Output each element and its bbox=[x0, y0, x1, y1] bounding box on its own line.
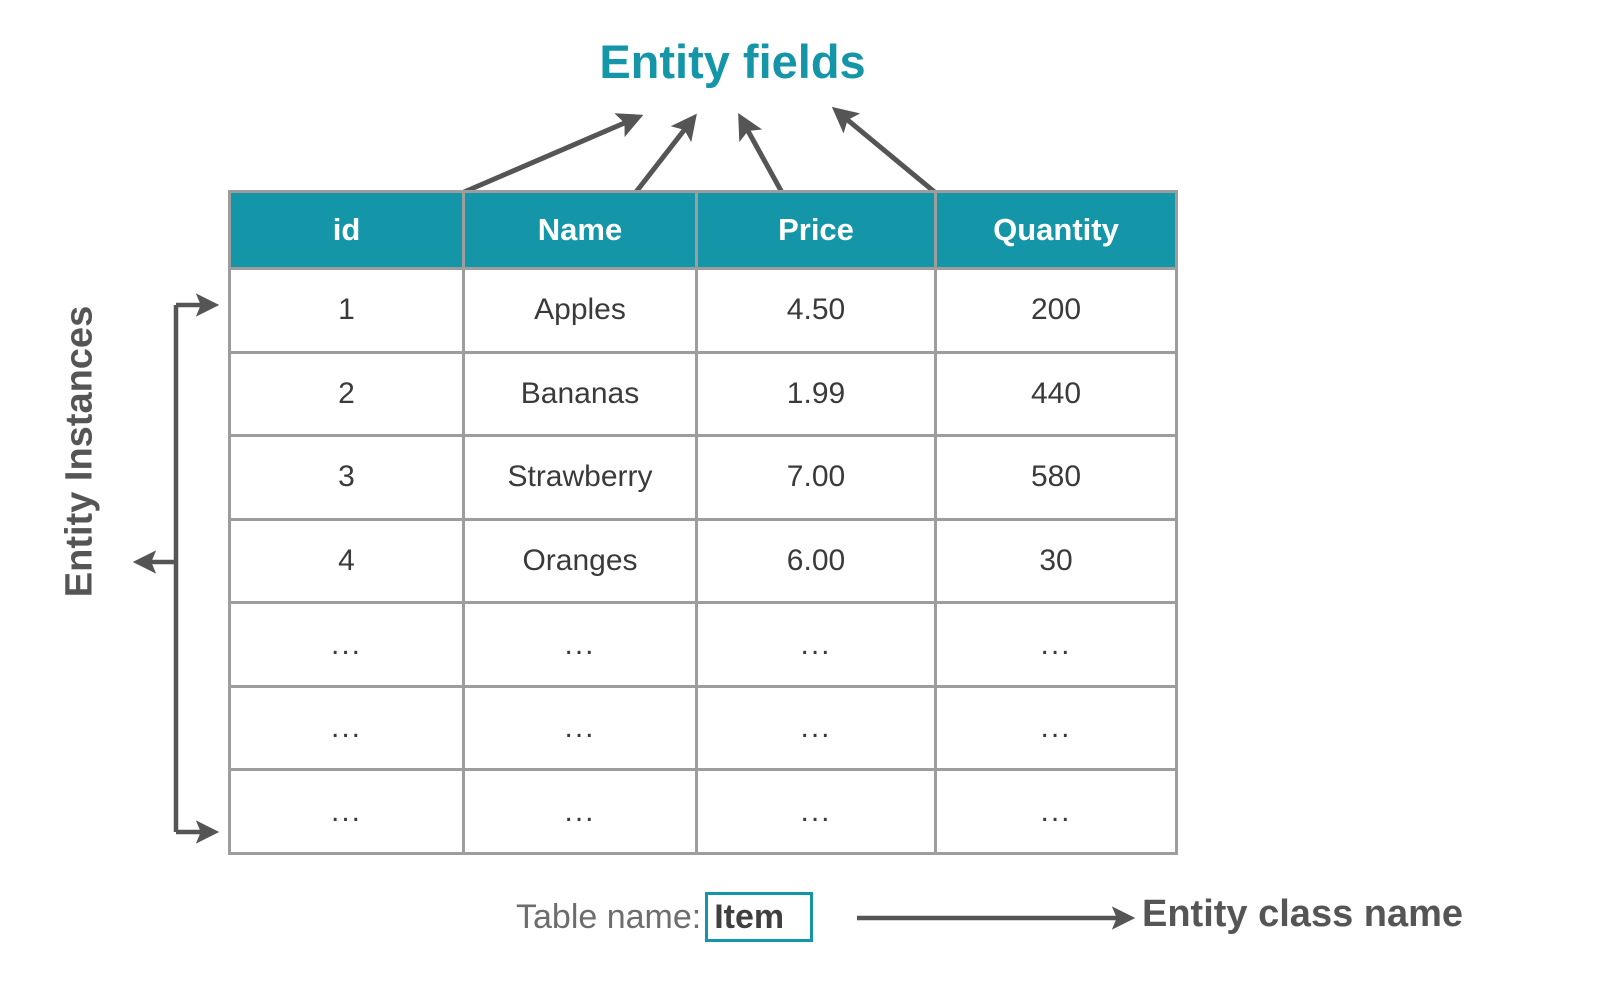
diagram-canvas: Entity fields Ent bbox=[0, 0, 1600, 985]
cell-id: 4 bbox=[230, 519, 464, 603]
cell-quantity: ... bbox=[936, 770, 1177, 854]
cell-price: ... bbox=[697, 686, 936, 770]
cell-name: Oranges bbox=[464, 519, 697, 603]
table-row: ... ... ... ... bbox=[230, 603, 1177, 687]
table-row: 4 Oranges 6.00 30 bbox=[230, 519, 1177, 603]
table-name-box[interactable]: Item bbox=[705, 892, 813, 942]
table-row: ... ... ... ... bbox=[230, 686, 1177, 770]
cell-name: Strawberry bbox=[464, 436, 697, 520]
cell-price: 4.50 bbox=[697, 269, 936, 353]
table-row: 2 Bananas 1.99 440 bbox=[230, 352, 1177, 436]
table-name-caption: Table name: Item bbox=[516, 890, 813, 944]
column-header-id[interactable]: id bbox=[230, 192, 464, 269]
cell-id: ... bbox=[230, 686, 464, 770]
cell-quantity: ... bbox=[936, 686, 1177, 770]
entity-instances-label: Entity Instances bbox=[59, 242, 102, 662]
column-header-price[interactable]: Price bbox=[697, 192, 936, 269]
entity-table: id Name Price Quantity 1 Apples 4.50 200… bbox=[228, 190, 1178, 855]
cell-price: 7.00 bbox=[697, 436, 936, 520]
cell-price: 1.99 bbox=[697, 352, 936, 436]
column-header-name[interactable]: Name bbox=[464, 192, 697, 269]
cell-quantity: ... bbox=[936, 603, 1177, 687]
table-name-value: Item bbox=[714, 898, 784, 937]
table-header-row: id Name Price Quantity bbox=[230, 192, 1177, 269]
cell-id: 3 bbox=[230, 436, 464, 520]
cell-price: 6.00 bbox=[697, 519, 936, 603]
cell-price: ... bbox=[697, 603, 936, 687]
table-name-label: Table name: bbox=[516, 898, 701, 937]
cell-id: 2 bbox=[230, 352, 464, 436]
cell-quantity: 440 bbox=[936, 352, 1177, 436]
table-row: ... ... ... ... bbox=[230, 770, 1177, 854]
entity-class-name-label: Entity class name bbox=[1142, 893, 1463, 936]
cell-id: ... bbox=[230, 603, 464, 687]
table-row: 1 Apples 4.50 200 bbox=[230, 269, 1177, 353]
cell-quantity: 200 bbox=[936, 269, 1177, 353]
cell-id: 1 bbox=[230, 269, 464, 353]
table-row: 3 Strawberry 7.00 580 bbox=[230, 436, 1177, 520]
cell-quantity: 580 bbox=[936, 436, 1177, 520]
instances-bracket-icon bbox=[140, 305, 212, 832]
cell-name: ... bbox=[464, 770, 697, 854]
cell-name: ... bbox=[464, 686, 697, 770]
column-header-quantity[interactable]: Quantity bbox=[936, 192, 1177, 269]
cell-id: ... bbox=[230, 770, 464, 854]
cell-name: Bananas bbox=[464, 352, 697, 436]
cell-name: Apples bbox=[464, 269, 697, 353]
page-title: Entity fields bbox=[0, 34, 1465, 89]
cell-price: ... bbox=[697, 770, 936, 854]
cell-name: ... bbox=[464, 603, 697, 687]
cell-quantity: 30 bbox=[936, 519, 1177, 603]
